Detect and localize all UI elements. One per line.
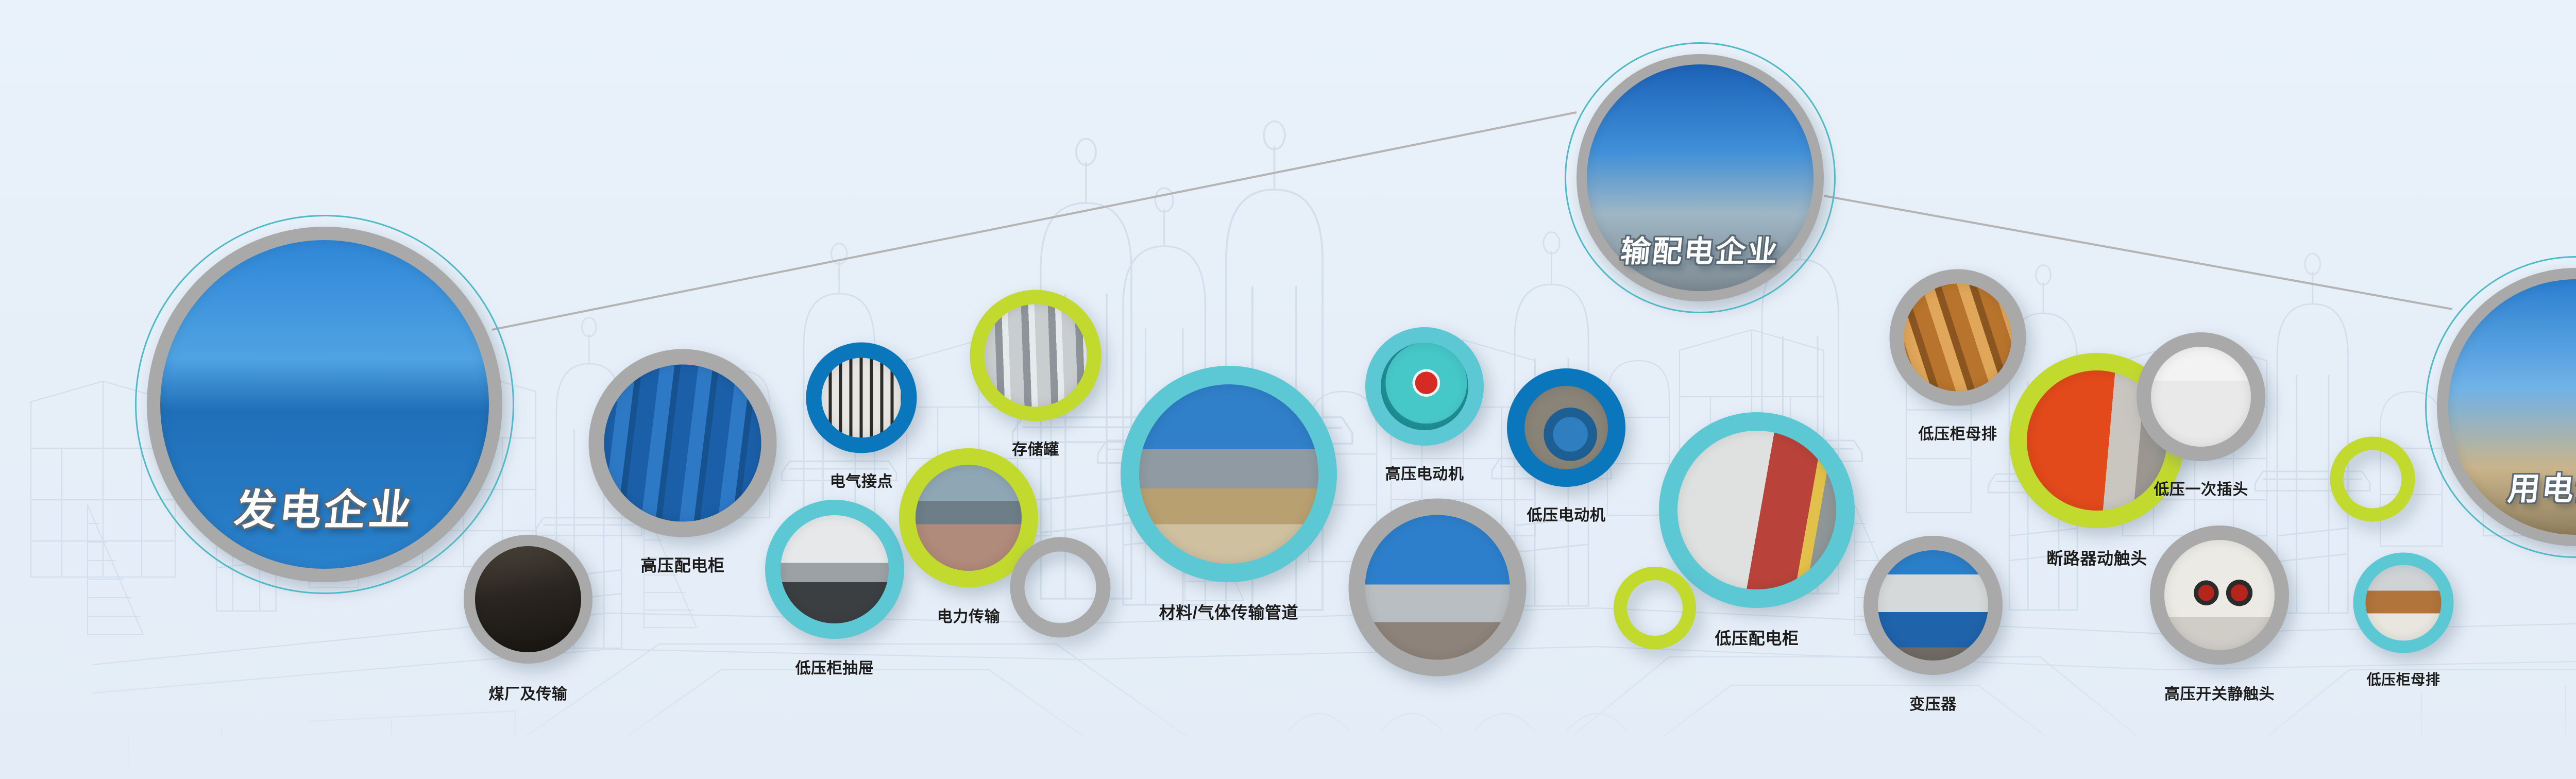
caption-hv-switch-static-contact: 高压开关静触头 xyxy=(2164,681,2275,704)
ring-power-generation-enterprise xyxy=(147,227,502,582)
ring-storage-tank xyxy=(970,290,1101,421)
ring-lv-cabinet-busbar-copper xyxy=(1890,269,2026,406)
ring-transformer xyxy=(1863,536,2003,675)
ring-hv-motor xyxy=(1365,327,1484,446)
ring-decor-ring-grey xyxy=(1010,537,1111,638)
hero-node-transmission-distribution-enterprise[interactable]: 输配电企业 xyxy=(1577,54,1824,301)
photo-hv-distribution-cabinet xyxy=(604,365,761,522)
caption-lv-cabinet-busbar: 低压柜母排 xyxy=(2367,669,2441,689)
photo-lv-cabinet-drawer xyxy=(781,515,889,623)
photo-power-consumer-enterprise xyxy=(2448,279,2576,535)
ring-electrical-contact-point xyxy=(806,343,917,453)
node-unlabeled-plant-grey[interactable] xyxy=(1349,499,1527,676)
node-decor-ring-green[interactable] xyxy=(1614,567,1696,649)
node-decor-ring-grey[interactable] xyxy=(1010,537,1111,638)
caption-lv-cabinet-busbar-copper: 低压柜母排 xyxy=(1919,421,1997,444)
ring-material-gas-pipeline xyxy=(1121,366,1337,582)
node-material-gas-pipeline[interactable]: 材料/气体传输管道 xyxy=(1121,366,1337,582)
hero-node-power-generation-enterprise[interactable]: 发电企业 xyxy=(147,227,502,582)
ring-lv-cabinet-busbar xyxy=(2353,553,2454,653)
node-transformer[interactable]: 变压器 xyxy=(1863,536,2003,675)
photo-power-transmission xyxy=(916,465,1022,571)
caption-lv-cabinet-drawer: 低压柜抽屉 xyxy=(795,655,874,678)
photo-power-generation-enterprise xyxy=(160,240,489,569)
ring-lv-motor xyxy=(1507,368,1625,487)
photo-hv-motor xyxy=(1381,343,1468,430)
caption-electrical-contact-point: 电气接点 xyxy=(830,469,893,492)
poster-canvas: 煤厂及传输高压配电柜低压柜抽屉电气接点存储罐电力传输材料/气体传输管道高压电动机… xyxy=(0,0,2576,779)
photo-lv-cabinet-busbar-copper xyxy=(1904,284,2012,392)
node-lv-cabinet-busbar-copper[interactable]: 低压柜母排 xyxy=(1890,269,2026,406)
node-lv-primary-plug[interactable]: 低压一次插头 xyxy=(2137,332,2265,461)
photo-unlabeled-plant-grey xyxy=(1365,515,1510,660)
node-lv-cabinet-drawer[interactable]: 低压柜抽屉 xyxy=(765,500,904,639)
caption-lv-primary-plug: 低压一次插头 xyxy=(2154,477,2248,499)
photo-storage-tank xyxy=(985,304,1087,407)
node-lv-motor[interactable]: 低压电动机 xyxy=(1507,368,1625,487)
caption-power-transmission: 电力传输 xyxy=(937,604,1000,626)
node-decor-ring-green-right[interactable] xyxy=(2330,437,2415,522)
ring-lv-primary-plug xyxy=(2137,332,2265,461)
caption-coal-plant-transport: 煤厂及传输 xyxy=(489,681,568,704)
photo-electrical-contact-point xyxy=(822,358,902,438)
ring-transmission-distribution-enterprise xyxy=(1577,54,1824,301)
ring-decor-ring-green-right xyxy=(2330,437,2415,522)
ring-power-consumer-enterprise xyxy=(2437,268,2576,546)
node-hv-motor[interactable]: 高压电动机 xyxy=(1365,327,1484,446)
photo-material-gas-pipeline xyxy=(1139,384,1318,564)
node-electrical-contact-point[interactable]: 电气接点 xyxy=(806,343,917,453)
ring-lv-cabinet-drawer xyxy=(765,500,904,639)
ring-decor-ring-green xyxy=(1614,567,1696,649)
caption-lv-motor: 低压电动机 xyxy=(1527,502,1606,525)
node-storage-tank[interactable]: 存储罐 xyxy=(970,290,1101,421)
hero-node-power-consumer-enterprise[interactable]: 用电企业 xyxy=(2437,268,2576,546)
photo-transformer xyxy=(1878,550,1988,661)
caption-transformer: 变压器 xyxy=(1909,691,1957,714)
ring-unlabeled-plant-grey xyxy=(1349,499,1527,676)
caption-material-gas-pipeline: 材料/气体传输管道 xyxy=(1159,600,1299,623)
caption-hv-motor: 高压电动机 xyxy=(1385,461,1464,484)
ring-hv-switch-static-contact xyxy=(2150,526,2289,665)
photo-hv-switch-static-contact xyxy=(2164,540,2275,650)
photo-lv-cabinet-busbar xyxy=(2366,565,2442,641)
node-hv-switch-static-contact[interactable]: 高压开关静触头 xyxy=(2150,526,2289,665)
caption-hv-distribution-cabinet: 高压配电柜 xyxy=(640,553,724,577)
ring-hv-distribution-cabinet xyxy=(589,349,777,537)
photo-lv-distribution-cabinet xyxy=(1677,431,1836,589)
photo-lv-primary-plug xyxy=(2151,347,2251,447)
photo-lv-motor xyxy=(1524,386,1608,469)
node-lv-cabinet-busbar[interactable]: 低压柜母排 xyxy=(2353,553,2454,653)
caption-breaker-moving-contact: 断路器动触头 xyxy=(2046,546,2147,569)
photo-transmission-distribution-enterprise xyxy=(1587,64,1814,291)
node-hv-distribution-cabinet[interactable]: 高压配电柜 xyxy=(589,349,777,537)
caption-lv-distribution-cabinet: 低压配电柜 xyxy=(1715,625,1799,649)
